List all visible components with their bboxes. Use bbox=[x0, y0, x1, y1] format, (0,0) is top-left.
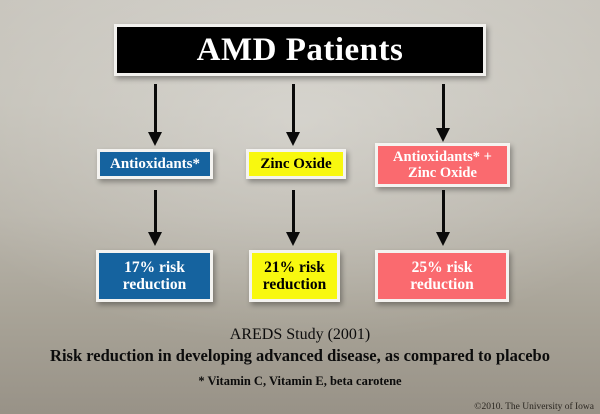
outcome-line2-21: reduction bbox=[263, 276, 326, 293]
title-banner: AMD Patients bbox=[114, 24, 486, 76]
treatment-label-antioxidants: Antioxidants* bbox=[110, 156, 200, 173]
caption-study: AREDS Study (2001) bbox=[0, 326, 600, 344]
treatment-label-zinc-oxide: Zinc Oxide bbox=[260, 156, 331, 173]
outcome-line1-17: 17% risk bbox=[124, 259, 185, 276]
arrow-title-to-antioxidants bbox=[148, 84, 162, 146]
caption-footnote: * Vitamin C, Vitamin E, beta carotene bbox=[0, 374, 600, 389]
outcome-label-25: 25% risk reduction bbox=[410, 259, 473, 294]
arrow-combo-to-result bbox=[436, 190, 450, 246]
outcome-box-25-percent[interactable]: 25% risk reduction bbox=[375, 250, 509, 302]
treatment-box-antioxidants[interactable]: Antioxidants* bbox=[97, 149, 213, 179]
outcome-line1-21: 21% risk bbox=[264, 259, 325, 276]
treatment-box-antioxidants-plus-zinc[interactable]: Antioxidants* + Zinc Oxide bbox=[375, 143, 510, 187]
arrow-title-to-combo bbox=[436, 84, 450, 142]
arrow-title-to-zinc bbox=[286, 84, 300, 146]
copyright-notice: ©2010. The University of Iowa bbox=[474, 402, 594, 412]
outcome-box-17-percent[interactable]: 17% risk reduction bbox=[96, 250, 213, 302]
treatment-box-zinc-oxide[interactable]: Zinc Oxide bbox=[246, 149, 346, 179]
page-title: AMD Patients bbox=[197, 34, 404, 67]
outcome-box-21-percent[interactable]: 21% risk reduction bbox=[249, 250, 340, 302]
outcome-label-21: 21% risk reduction bbox=[263, 259, 326, 294]
arrow-antioxidants-to-result bbox=[148, 190, 162, 246]
treatment-label-combo-line1: Antioxidants* + bbox=[393, 149, 492, 165]
treatment-label-combo-line2: Zinc Oxide bbox=[408, 165, 477, 181]
outcome-line2-17: reduction bbox=[123, 276, 186, 293]
outcome-label-17: 17% risk reduction bbox=[123, 259, 186, 294]
outcome-line1-25: 25% risk bbox=[412, 259, 473, 276]
treatment-label-combo: Antioxidants* + Zinc Oxide bbox=[393, 149, 492, 181]
slide-canvas: AMD Patients Antioxidants* Zinc Oxide An… bbox=[0, 0, 600, 414]
arrow-zinc-to-result bbox=[286, 190, 300, 246]
outcome-line2-25: reduction bbox=[410, 276, 473, 293]
caption-description: Risk reduction in developing advanced di… bbox=[0, 346, 600, 366]
